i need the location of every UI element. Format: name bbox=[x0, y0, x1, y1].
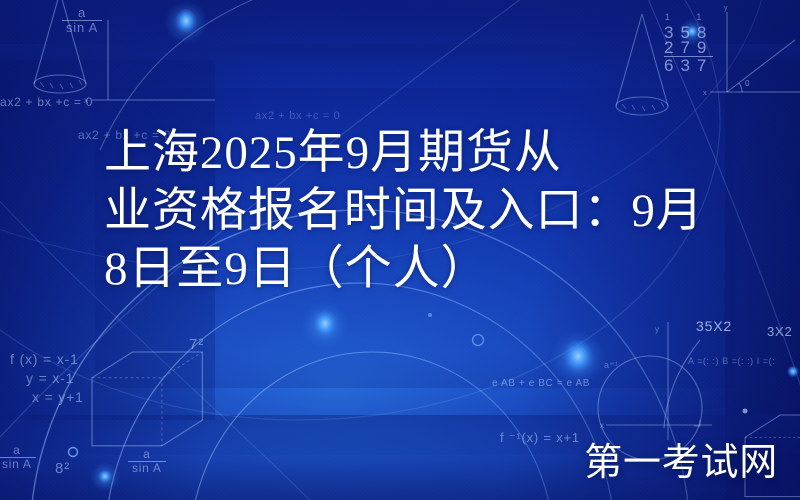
title-line-3: 8日至9日（个人） bbox=[104, 240, 724, 298]
title-line-1: 上海2025年9月期货从 bbox=[104, 124, 724, 182]
poster-canvas: x 0 x y y x bbox=[0, 0, 800, 500]
poster-title: 上海2025年9月期货从 业资格报名时间及入口：9月 8日至9日（个人） bbox=[104, 124, 724, 298]
title-line-2: 业资格报名时间及入口：9月 bbox=[104, 182, 724, 240]
site-watermark: 第一考试网 bbox=[584, 440, 778, 486]
